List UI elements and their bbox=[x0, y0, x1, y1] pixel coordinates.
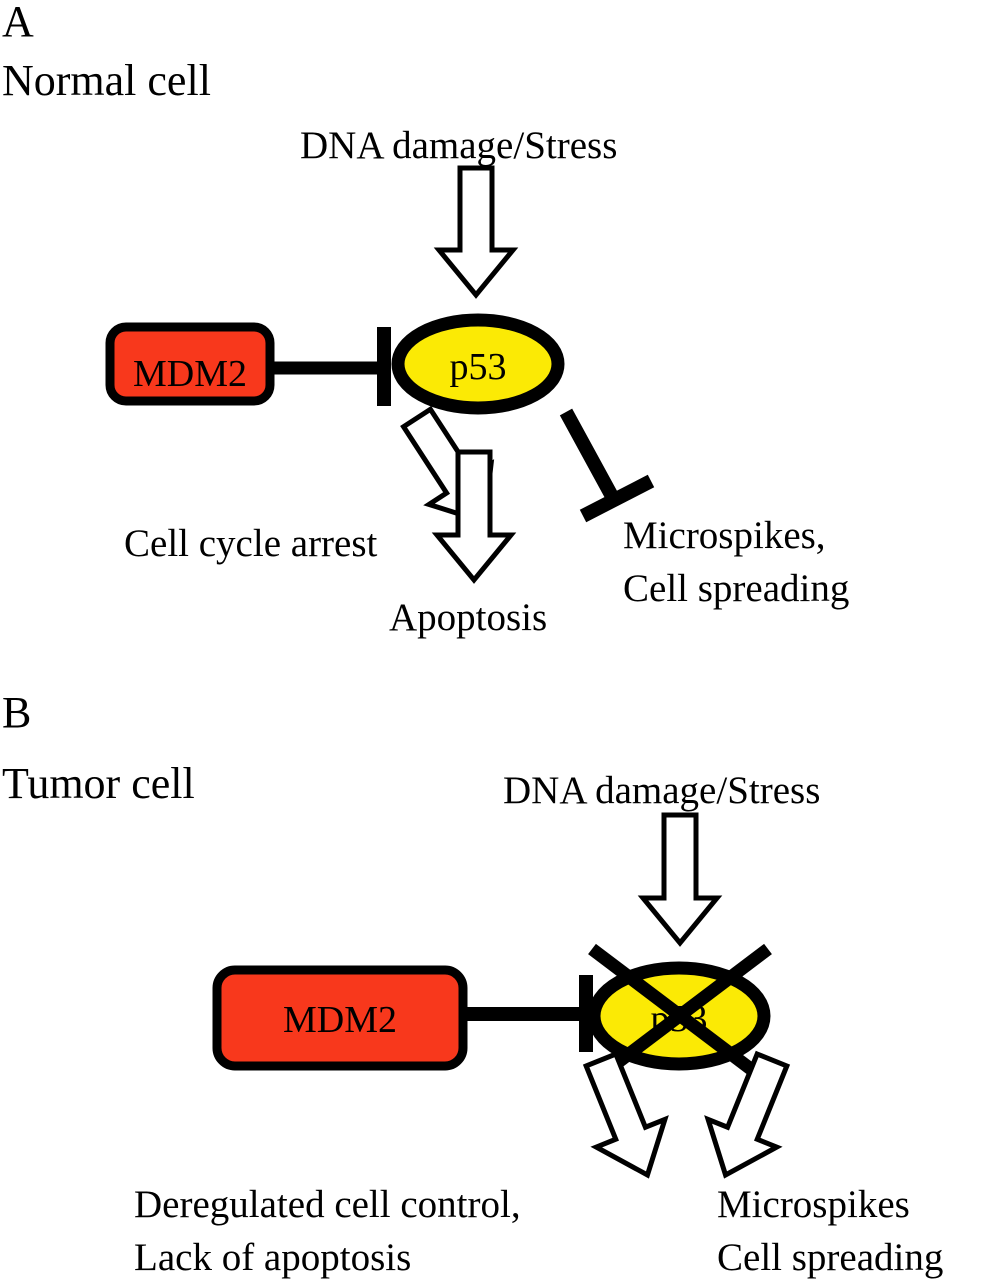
panel-b-outcome-lack-of-apoptosis: Lack of apoptosis bbox=[134, 1236, 411, 1279]
panel-a-outcome-microspikes: Microspikes, bbox=[623, 514, 826, 557]
panel-a-mdm2-node: MDM2 bbox=[110, 327, 270, 401]
panel-b-title: Tumor cell bbox=[2, 759, 195, 808]
panel-b-stimulus-label: DNA damage/Stress bbox=[503, 769, 820, 812]
panel-a-p53-label: p53 bbox=[450, 346, 507, 388]
figure-background bbox=[0, 0, 998, 1280]
panel-b-outcome-deregulated-control: Deregulated cell control, bbox=[134, 1183, 521, 1226]
panel-a-stimulus-label: DNA damage/Stress bbox=[300, 124, 617, 167]
panel-a-outcome-apoptosis: Apoptosis bbox=[389, 596, 547, 639]
panel-a-outcome-cell-spreading: Cell spreading bbox=[623, 567, 849, 610]
panel-a-outcome-cell-cycle-arrest: Cell cycle arrest bbox=[124, 522, 378, 565]
panel-b-outcome-microspikes: Microspikes bbox=[717, 1183, 910, 1226]
panel-a-letter: A bbox=[2, 0, 34, 46]
panel-b-letter: B bbox=[2, 688, 31, 737]
panel-a-mdm2-label: MDM2 bbox=[133, 353, 247, 395]
panel-b-outcome-cell-spreading: Cell spreading bbox=[717, 1236, 943, 1279]
panel-a-title: Normal cell bbox=[2, 56, 211, 105]
panel-b-mdm2-label: MDM2 bbox=[283, 999, 397, 1041]
panel-b-mdm2-node: MDM2 bbox=[217, 970, 463, 1066]
panel-a-p53-node: p53 bbox=[398, 320, 558, 408]
pathway-diagram: A Normal cell DNA damage/Stress MDM2 p53 bbox=[0, 0, 998, 1280]
